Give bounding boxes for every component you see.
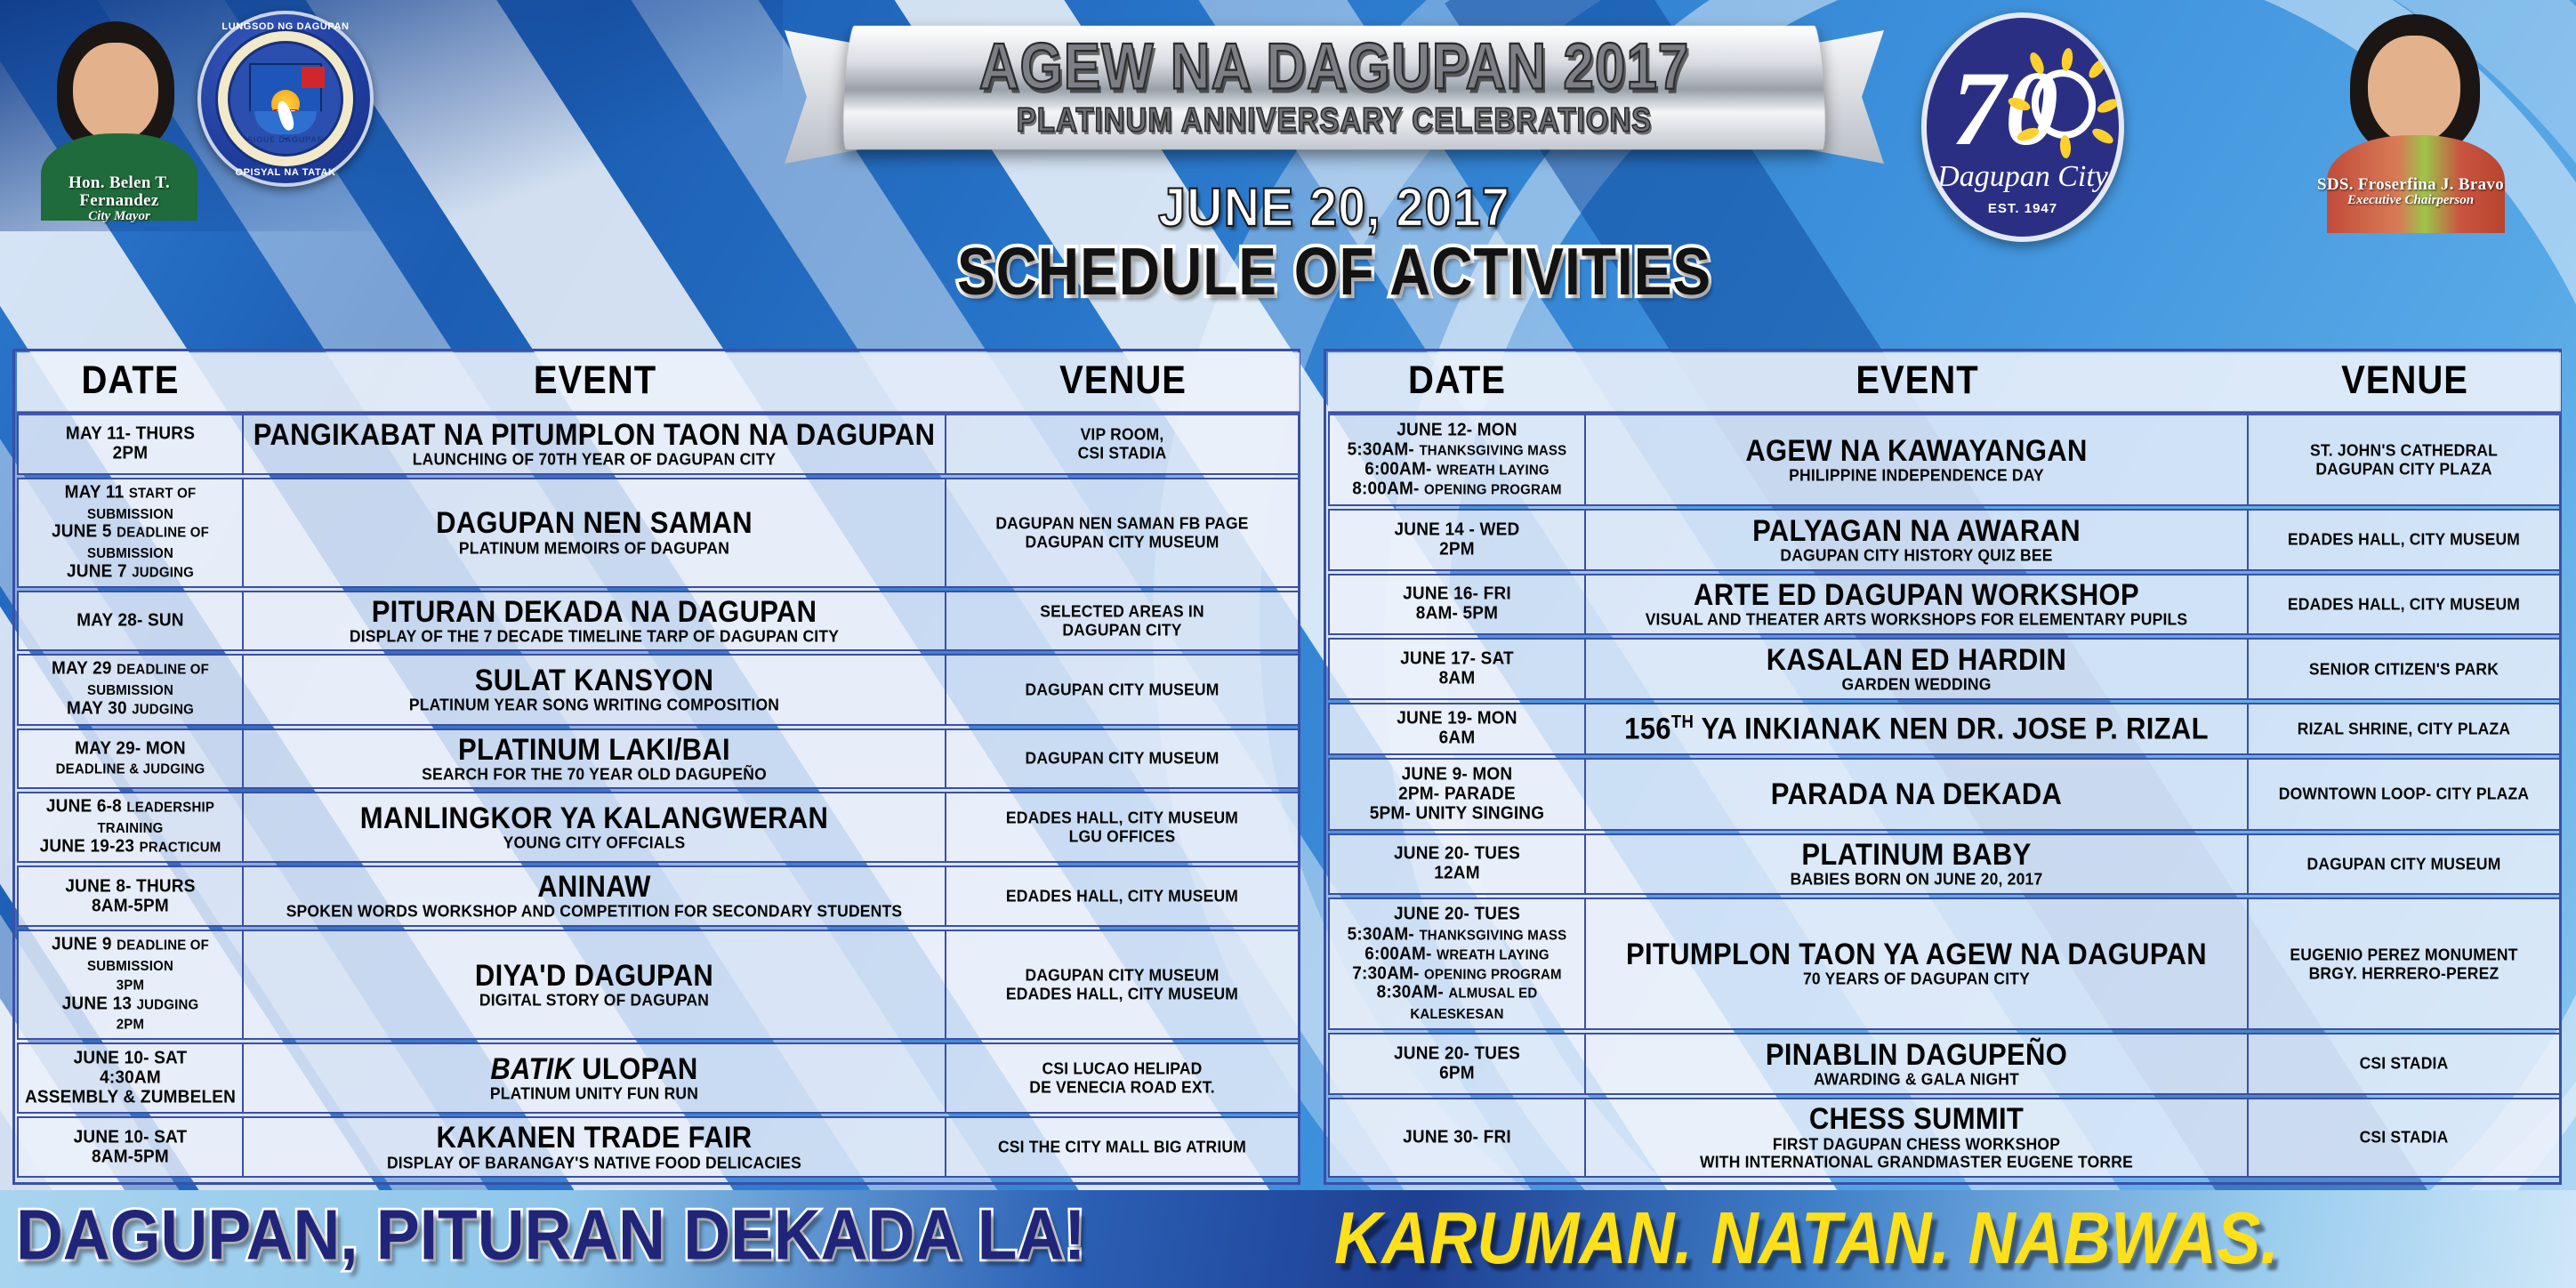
event-title: PINABLIN DAGUPEÑO: [1591, 1038, 2242, 1072]
logo-city-name: Dagupan City: [1927, 160, 2119, 194]
cell-venue: ST. JOHN'S CATHEDRALDAGUPAN CITY PLAZA: [2249, 414, 2561, 506]
column-header-venue: VENUE: [2249, 352, 2561, 414]
face-shape: [2368, 36, 2460, 144]
event-title: BATIK ULOPAN: [249, 1052, 939, 1086]
table-row: JUNE 8- THURS8AM-5PMANINAWSPOKEN WORDS W…: [17, 865, 1300, 927]
banner-subtitle: PLATINUM ANNIVERSARY CELEBRATIONS: [783, 101, 1886, 140]
event-subtitle: SPOKEN WORDS WORKSHOP AND COMPETITION FO…: [249, 902, 939, 922]
face-shape: [73, 43, 158, 142]
venue-line: CSI STADIA: [952, 444, 1292, 463]
chairperson-caption: SDS. Froserfina J. Bravo Executive Chair…: [2295, 176, 2526, 208]
event-date: JUNE 20, 2017: [783, 175, 1886, 239]
header: Hon. Belen T. Fernandez City Mayor 1947 …: [0, 0, 2576, 347]
slogan-right: KARUMAN. NATAN. NABWAS.: [1334, 1195, 2576, 1280]
table-row: JUNE 20- TUES6PMPINABLIN DAGUPEÑOAWARDIN…: [1328, 1033, 2561, 1095]
event-title: PITUMPLON TAON YA AGEW NA DAGUPAN: [1591, 938, 2242, 972]
venue-line: DAGUPAN CITY MUSEUM: [952, 965, 1292, 985]
venue-line: EDADES HALL, CITY MUSEUM: [952, 984, 1292, 1003]
cell-event: DAGUPAN NEN SAMANPLATINUM MEMOIRS OF DAG…: [244, 478, 946, 588]
event-subtitle: YOUNG CITY OFFCIALS: [249, 833, 939, 852]
date-line: 4:30AM: [24, 1068, 237, 1089]
event-title: PITURAN DEKADA NA DAGUPAN: [249, 595, 939, 629]
cell-date: JUNE 17- SAT8AM: [1328, 638, 1586, 700]
schedule-table-left: DATE EVENT VENUE MAY 11- THURS2PMPANGIKA…: [12, 349, 1300, 1185]
table-row: MAY 28- SUNPITURAN DEKADA NA DAGUPANDISP…: [17, 591, 1300, 652]
cell-venue: SENIOR CITIZEN'S PARK: [2249, 638, 2561, 700]
cell-date: JUNE 9 DEADLINE OF SUBMISSION3PMJUNE 13 …: [17, 930, 244, 1040]
event-subtitle: PHILIPPINE INDEPENDENCE DAY: [1591, 465, 2242, 485]
banner-title: AGEW NA DAGUPAN 2017: [783, 30, 1886, 105]
cell-date: MAY 29 DEADLINE OF SUBMISSIONMAY 30 JUDG…: [17, 654, 244, 725]
table-row: JUNE 19- MON6AM156TH YA INKIANAK NEN DR.…: [1328, 703, 2561, 755]
column-header-event: EVENT: [244, 352, 946, 414]
cell-venue: CSI STADIA: [2249, 1033, 2561, 1095]
cell-venue: CSI THE CITY MALL BIG ATRIUM: [946, 1116, 1300, 1178]
venue-line: RIZAL SHRINE, CITY PLAZA: [2254, 719, 2554, 738]
cell-date: JUNE 10- SAT4:30AMASSEMBLY & ZUMBELEN: [17, 1042, 244, 1114]
event-subtitle: GARDEN WEDDING: [1591, 674, 2242, 694]
table-row: JUNE 12- MON5:30AM- THANKSGIVING MASS6:0…: [1328, 414, 2561, 506]
date-line: MAY 11- THURS: [24, 424, 237, 445]
event-title: PLATINUM LAKI/BAI: [249, 733, 939, 767]
cell-date: JUNE 20- TUES5:30AM- THANKSGIVING MASS6:…: [1328, 898, 1586, 1030]
date-line: 8AM-5PM: [24, 1147, 237, 1167]
slogan-left: DAGUPAN, PITURAN DEKADA LA!: [16, 1195, 1345, 1276]
table-row: JUNE 20- TUES12AMPLATINUM BABYBABIES BOR…: [1328, 833, 2561, 896]
event-title: PALYAGAN NA AWARAN: [1591, 514, 2242, 548]
cell-event: MANLINGKOR YA KALANGWERANYOUNG CITY OFFC…: [244, 792, 946, 863]
table-row: MAY 11 START OF SUBMISSIONJUNE 5 DEADLIN…: [17, 478, 1300, 588]
cell-date: JUNE 9- MON2PM- PARADE5PM- UNITY SINGING: [1328, 758, 1586, 831]
date-line: MAY 11 START OF SUBMISSION: [24, 482, 237, 524]
table-row: JUNE 10- SAT4:30AMASSEMBLY & ZUMBELENBAT…: [17, 1042, 1300, 1114]
chairperson-portrait: SDS. Froserfina J. Bravo Executive Chair…: [2322, 11, 2513, 233]
date-line: JUNE 30- FRI: [1335, 1127, 1579, 1147]
date-line: JUNE 16- FRI: [1335, 584, 1579, 605]
table-header-row: DATE EVENT VENUE: [17, 356, 1300, 411]
event-subtitle: AWARDING & GALA NIGHT: [1591, 1069, 2242, 1089]
venue-line: EDADES HALL, CITY MUSEUM: [952, 886, 1292, 906]
date-line: JUNE 10- SAT: [24, 1127, 237, 1147]
cell-event: 156TH YA INKIANAK NEN DR. JOSE P. RIZAL: [1586, 703, 2249, 755]
date-line: 8:00AM- OPENING PROGRAM: [1335, 479, 1579, 499]
event-subtitle: 70 YEARS OF DAGUPAN CITY: [1591, 970, 2242, 989]
cell-date: MAY 11 START OF SUBMISSIONJUNE 5 DEADLIN…: [17, 478, 244, 588]
date-line: 6AM: [1335, 729, 1579, 749]
event-title: ANINAW: [249, 871, 939, 905]
cell-event: PALYAGAN NA AWARANDAGUPAN CITY HISTORY Q…: [1586, 509, 2249, 571]
cell-date: JUNE 8- THURS8AM-5PM: [17, 865, 244, 927]
seal-text-bottom: OPISYAL NA TATAK: [201, 167, 370, 178]
date-line: 2PM: [1335, 539, 1579, 559]
event-subtitle: DISPLAY OF BARANGAY'S NATIVE FOOD DELICA…: [249, 1153, 939, 1172]
venue-line: CSI STADIA: [2254, 1054, 2554, 1074]
cell-event: PINABLIN DAGUPEÑOAWARDING & GALA NIGHT: [1586, 1033, 2249, 1095]
table-header-row: DATE EVENT VENUE: [1328, 356, 2561, 411]
sun-ray-icon: [2060, 47, 2074, 71]
venue-line: DOWNTOWN LOOP- CITY PLAZA: [2254, 785, 2554, 804]
cell-event: AGEW NA KAWAYANGANPHILIPPINE INDEPENDENC…: [1586, 414, 2249, 506]
event-title: DAGUPAN NEN SAMAN: [249, 507, 939, 541]
cell-date: MAY 28- SUN: [17, 591, 244, 652]
event-subtitle: WITH INTERNATIONAL GRANDMASTER EUGENE TO…: [1591, 1152, 2242, 1171]
date-line: JUNE 5 DEADLINE OF SUBMISSION: [24, 521, 237, 563]
cell-event: PLATINUM BABYBABIES BORN ON JUNE 20, 201…: [1586, 833, 2249, 896]
cell-venue: VIP ROOM,CSI STADIA: [946, 414, 1300, 475]
cell-venue: DAGUPAN CITY MUSEUM: [946, 654, 1300, 725]
date-line: 5:30AM- THANKSGIVING MASS: [1335, 439, 1579, 460]
cell-event: PARADA NA DEKADA: [1586, 758, 2249, 831]
table-row: JUNE 9- MON2PM- PARADE5PM- UNITY SINGING…: [1328, 758, 2561, 831]
venue-line: BRGY. HERRERO-PEREZ: [2254, 963, 2554, 983]
cell-venue: EDADES HALL, CITY MUSEUM: [2249, 509, 2561, 571]
venue-line: SENIOR CITIZEN'S PARK: [2254, 659, 2554, 679]
schedule-rows-right: JUNE 12- MON5:30AM- THANKSGIVING MASS6:0…: [1328, 414, 2561, 1178]
date-line: JUNE 12- MON: [1335, 420, 1579, 440]
venue-line: CSI LUCAO HELIPAD: [952, 1059, 1292, 1079]
schedule-table: DATE EVENT VENUE MAY 11- THURS2PMPANGIKA…: [17, 353, 1300, 1180]
date-line: 2PM: [24, 1013, 237, 1034]
table-row: JUNE 17- SAT8AMKASALAN ED HARDINGARDEN W…: [1328, 638, 2561, 700]
cell-event: SULAT KANSYONPLATINUM YEAR SONG WRITING …: [244, 654, 946, 725]
venue-line: ST. JOHN'S CATHEDRAL: [2254, 440, 2554, 460]
event-title: DIYA'D DAGUPAN: [249, 959, 939, 993]
page-title: SCHEDULE OF ACTIVITIES: [783, 232, 1886, 310]
cell-date: MAY 11- THURS2PM: [17, 414, 244, 475]
cell-venue: DAGUPAN CITY MUSEUM: [2249, 833, 2561, 896]
cell-event: PLATINUM LAKI/BAISEARCH FOR THE 70 YEAR …: [244, 729, 946, 790]
table-row: JUNE 16- FRI8AM- 5PMARTE ED DAGUPAN WORK…: [1328, 574, 2561, 636]
cell-event: ANINAWSPOKEN WORDS WORKSHOP AND COMPETIT…: [244, 865, 946, 927]
event-subtitle: BABIES BORN ON JUNE 20, 2017: [1591, 870, 2242, 890]
event-subtitle: PLATINUM YEAR SONG WRITING COMPOSITION: [249, 696, 939, 715]
table-row: MAY 29 DEADLINE OF SUBMISSIONMAY 30 JUDG…: [17, 654, 1300, 725]
logo-established: EST. 1947: [1927, 201, 2119, 216]
event-title: SULAT KANSYON: [249, 664, 939, 698]
venue-line: EUGENIO PEREZ MONUMENT: [2254, 945, 2554, 964]
sun-ray-icon: [2086, 56, 2109, 81]
table-row: JUNE 9 DEADLINE OF SUBMISSION3PMJUNE 13 …: [17, 930, 1300, 1040]
date-line: 3PM: [24, 974, 237, 994]
sun-ray-icon: [2059, 135, 2072, 159]
cell-venue: SELECTED AREAS INDAGUPAN CITY: [946, 591, 1300, 652]
venue-line: CSI THE CITY MALL BIG ATRIUM: [952, 1138, 1292, 1157]
venue-line: DAGUPAN NEN SAMAN FB PAGE: [952, 513, 1292, 533]
venue-line: DAGUPAN CITY MUSEUM: [952, 749, 1292, 769]
event-title: KAKANEN TRADE FAIR: [249, 1122, 939, 1155]
venue-line: EDADES HALL, CITY MUSEUM: [2254, 594, 2554, 614]
venue-line: DAGUPAN CITY PLAZA: [2254, 459, 2554, 479]
date-line: 8AM-5PM: [24, 896, 237, 916]
cell-venue: EDADES HALL, CITY MUSEUM: [946, 865, 1300, 927]
sun-ray-icon: [2096, 96, 2121, 116]
event-subtitle: PLATINUM UNITY FUN RUN: [249, 1084, 939, 1104]
cell-venue: EDADES HALL, CITY MUSEUMLGU OFFICES: [946, 792, 1300, 863]
venue-line: EDADES HALL, CITY MUSEUM: [952, 809, 1292, 828]
event-subtitle: SEARCH FOR THE 70 YEAR OLD DAGUPEÑO: [249, 764, 939, 784]
cell-date: JUNE 16- FRI8AM- 5PM: [1328, 574, 1586, 636]
cell-event: ARTE ED DAGUPAN WORKSHOPVISUAL AND THEAT…: [1586, 574, 2249, 636]
cell-venue: DOWNTOWN LOOP- CITY PLAZA: [2249, 758, 2561, 831]
event-subtitle: DAGUPAN CITY HISTORY QUIZ BEE: [1591, 545, 2242, 565]
venue-line: LGU OFFICES: [952, 827, 1292, 847]
date-line: JUNE 17- SAT: [1335, 648, 1579, 669]
mayor-portrait: Hon. Belen T. Fernandez City Mayor: [32, 16, 206, 221]
cell-event: PANGIKABAT NA PITUMPLON TAON NA DAGUPANL…: [244, 414, 946, 475]
date-line: 6PM: [1335, 1063, 1579, 1083]
chairperson-name: SDS. Froserfina J. Bravo: [2295, 176, 2526, 194]
table-row: JUNE 10- SAT8AM-5PMKAKANEN TRADE FAIRDIS…: [17, 1116, 1300, 1178]
cell-venue: DAGUPAN CITY MUSEUMEDADES HALL, CITY MUS…: [946, 930, 1300, 1040]
date-line: JUNE 19-23 PRACTICUM: [24, 837, 237, 857]
date-line: 12AM: [1335, 864, 1579, 884]
event-subtitle: FIRST DAGUPAN CHESS WORKSHOP: [1591, 1134, 2242, 1154]
venue-line: DE VENECIA ROAD EXT.: [952, 1078, 1292, 1098]
event-subtitle: VISUAL AND THEATER ARTS WORKSHOPS FOR EL…: [1591, 610, 2242, 630]
schedule-table-right: DATE EVENT VENUE JUNE 12- MON5:30AM- THA…: [1324, 349, 2562, 1185]
venue-line: EDADES HALL, CITY MUSEUM: [2254, 530, 2554, 550]
table-row: JUNE 14 - WED2PMPALYAGAN NA AWARANDAGUPA…: [1328, 509, 2561, 571]
date-line: 8AM- 5PM: [1335, 604, 1579, 624]
date-line: JUNE 13 JUDGING: [24, 994, 237, 1014]
schedule-table: DATE EVENT VENUE JUNE 12- MON5:30AM- THA…: [1328, 353, 2561, 1180]
cell-date: JUNE 19- MON6AM: [1328, 703, 1586, 755]
schedule-rows-left: MAY 11- THURS2PMPANGIKABAT NA PITUMPLON …: [17, 414, 1300, 1178]
cell-date: MAY 29- MONDEADLINE & JUDGING: [17, 729, 244, 790]
cell-event: KASALAN ED HARDINGARDEN WEDDING: [1586, 638, 2249, 700]
date-line: MAY 29 DEADLINE OF SUBMISSION: [24, 659, 237, 701]
date-line: JUNE 7 JUDGING: [24, 561, 237, 582]
cell-venue: EDADES HALL, CITY MUSEUM: [2249, 574, 2561, 636]
date-line: JUNE 20- TUES: [1335, 905, 1579, 925]
cell-date: JUNE 30- FRI: [1328, 1098, 1586, 1178]
date-line: JUNE 10- SAT: [24, 1049, 237, 1069]
date-line: 2PM- PARADE: [1335, 784, 1579, 804]
date-line: JUNE 19- MON: [1335, 709, 1579, 729]
sun-ray-icon: [2090, 125, 2116, 146]
table-row: JUNE 30- FRICHESS SUMMITFIRST DAGUPAN CH…: [1328, 1098, 2561, 1178]
footer-banner: DAGUPAN, PITURAN DEKADA LA! KARUMAN. NAT…: [0, 1190, 2576, 1288]
column-header-date: DATE: [17, 352, 244, 414]
cell-event: KAKANEN TRADE FAIRDISPLAY OF BARANGAY'S …: [244, 1116, 946, 1178]
date-line: JUNE 9- MON: [1335, 764, 1579, 785]
event-title: MANLINGKOR YA KALANGWERAN: [249, 801, 939, 835]
date-line: JUNE 9 DEADLINE OF SUBMISSION: [24, 935, 237, 977]
event-subtitle: LAUNCHING OF 70TH YEAR OF DAGUPAN CITY: [249, 450, 939, 470]
cell-date: JUNE 20- TUES6PM: [1328, 1033, 1586, 1095]
cell-venue: CSI LUCAO HELIPADDE VENECIA ROAD EXT.: [946, 1042, 1300, 1114]
mayor-role: City Mayor: [32, 210, 206, 224]
chairperson-role: Executive Chairperson: [2295, 194, 2526, 208]
event-title: PLATINUM BABY: [1591, 838, 2242, 872]
mayor-caption: Hon. Belen T. Fernandez City Mayor: [32, 174, 206, 224]
date-line: JUNE 14 - WED: [1335, 519, 1579, 540]
date-line: JUNE 20- TUES: [1335, 1043, 1579, 1064]
date-line: 8AM: [1335, 668, 1579, 688]
cell-venue: EUGENIO PEREZ MONUMENTBRGY. HERRERO-PERE…: [2249, 898, 2561, 1030]
date-line: 7:30AM- OPENING PROGRAM: [1335, 963, 1579, 984]
date-line: ASSEMBLY & ZUMBELEN: [24, 1088, 237, 1108]
date-line: 5PM- UNITY SINGING: [1335, 803, 1579, 824]
seal-motto: SIGUE DAGUPAN: [201, 135, 370, 144]
event-subtitle: PLATINUM MEMOIRS OF DAGUPAN: [249, 538, 939, 558]
venue-line: SELECTED AREAS IN: [952, 601, 1292, 621]
date-line: 8:30AM- ALMUSAL ED KALESKESAN: [1335, 982, 1579, 1024]
event-title: CHESS SUMMIT: [1591, 1103, 2242, 1137]
cell-event: PITUMPLON TAON YA AGEW NA DAGUPAN70 YEAR…: [1586, 898, 2249, 1030]
seventy-anniversary-logo: 70 Dagupan City EST. 1947: [1921, 12, 2124, 242]
title-ribbon: AGEW NA DAGUPAN 2017 PLATINUM ANNIVERSAR…: [783, 7, 1886, 185]
date-line: MAY 30 JUDGING: [24, 699, 237, 720]
city-seal-icon: 1947 LUNGSOD NG DAGUPAN OPISYAL NA TATAK…: [197, 11, 374, 187]
date-line: JUNE 6-8 LEADERSHIP TRAINING: [24, 797, 237, 839]
event-title: ARTE ED DAGUPAN WORKSHOP: [1591, 579, 2242, 613]
date-line: DEADLINE & JUDGING: [24, 758, 237, 778]
date-line: 6:00AM- WREATH LAYING: [1335, 944, 1579, 964]
cell-venue: CSI STADIA: [2249, 1098, 2561, 1178]
cell-venue: DAGUPAN NEN SAMAN FB PAGEDAGUPAN CITY MU…: [946, 478, 1300, 588]
column-header-date: DATE: [1328, 352, 1586, 414]
cell-event: PITURAN DEKADA NA DAGUPANDISPLAY OF THE …: [244, 591, 946, 652]
cell-venue: DAGUPAN CITY MUSEUM: [946, 729, 1300, 790]
table-row: JUNE 20- TUES5:30AM- THANKSGIVING MASS6:…: [1328, 898, 2561, 1030]
column-header-venue: VENUE: [946, 352, 1300, 414]
cell-event: CHESS SUMMITFIRST DAGUPAN CHESS WORKSHOP…: [1586, 1098, 2249, 1178]
event-title: KASALAN ED HARDIN: [1591, 643, 2242, 677]
cell-date: JUNE 10- SAT8AM-5PM: [17, 1116, 244, 1178]
date-line: 6:00AM- WREATH LAYING: [1335, 459, 1579, 479]
seal-red-field: [302, 67, 325, 88]
event-subtitle: DISPLAY OF THE 7 DECADE TIMELINE TARP OF…: [249, 626, 939, 646]
venue-line: DAGUPAN CITY MUSEUM: [952, 680, 1292, 699]
table-row: MAY 29- MONDEADLINE & JUDGINGPLATINUM LA…: [17, 729, 1300, 790]
date-line: MAY 28- SUN: [24, 610, 237, 631]
event-title: 156TH YA INKIANAK NEN DR. JOSE P. RIZAL: [1591, 712, 2242, 745]
mayor-name: Hon. Belen T. Fernandez: [32, 174, 206, 210]
cell-date: JUNE 14 - WED2PM: [1328, 509, 1586, 571]
date-line: 5:30AM- THANKSGIVING MASS: [1335, 924, 1579, 945]
venue-line: DAGUPAN CITY MUSEUM: [2254, 854, 2554, 873]
event-title: AGEW NA KAWAYANGAN: [1591, 434, 2242, 468]
cell-date: JUNE 6-8 LEADERSHIP TRAININGJUNE 19-23 P…: [17, 792, 244, 863]
event-title: PANGIKABAT NA PITUMPLON TAON NA DAGUPAN: [249, 418, 939, 452]
venue-line: DAGUPAN CITY: [952, 620, 1292, 640]
column-header-event: EVENT: [1586, 352, 2249, 414]
cell-venue: RIZAL SHRINE, CITY PLAZA: [2249, 703, 2561, 755]
event-subtitle: DIGITAL STORY OF DAGUPAN: [249, 990, 939, 1010]
date-line: 2PM: [24, 444, 237, 464]
table-row: MAY 11- THURS2PMPANGIKABAT NA PITUMPLON …: [17, 414, 1300, 475]
cell-event: DIYA'D DAGUPANDIGITAL STORY OF DAGUPAN: [244, 930, 946, 1040]
cell-event: BATIK ULOPANPLATINUM UNITY FUN RUN: [244, 1042, 946, 1114]
date-line: MAY 29- MON: [24, 738, 237, 759]
cell-date: JUNE 20- TUES12AM: [1328, 833, 1586, 896]
venue-line: CSI STADIA: [2254, 1128, 2554, 1147]
event-title: PARADA NA DEKADA: [1591, 777, 2242, 811]
date-line: JUNE 8- THURS: [24, 876, 237, 897]
cell-date: JUNE 12- MON5:30AM- THANKSGIVING MASS6:0…: [1328, 414, 1586, 506]
venue-line: DAGUPAN CITY MUSEUM: [952, 532, 1292, 551]
table-row: JUNE 6-8 LEADERSHIP TRAININGJUNE 19-23 P…: [17, 792, 1300, 863]
seal-text-top: LUNGSOD NG DAGUPAN: [201, 21, 370, 32]
date-line: JUNE 20- TUES: [1335, 844, 1579, 865]
venue-line: VIP ROOM,: [952, 425, 1292, 445]
